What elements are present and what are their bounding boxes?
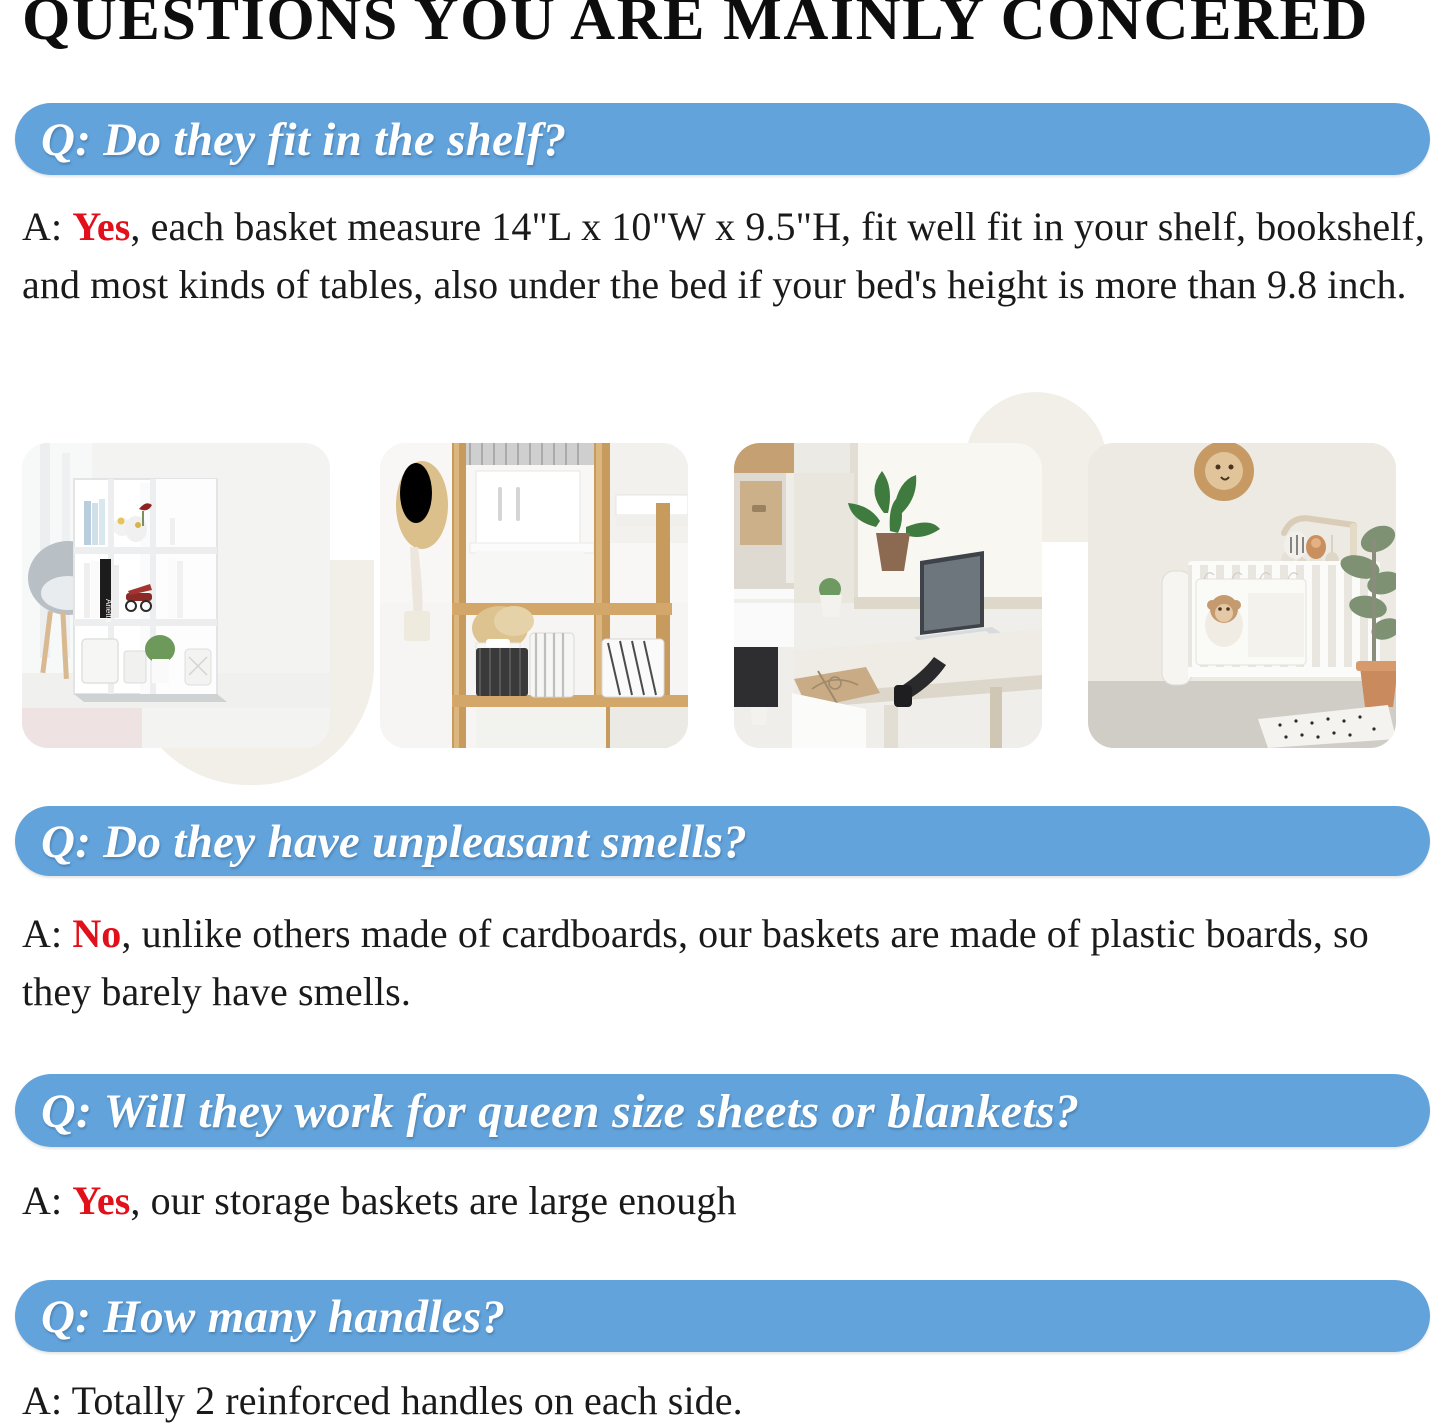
question-label-2: Q: Do they have unpleasant smells?: [41, 816, 747, 868]
question-bar-4: Q: How many handles?: [15, 1280, 1430, 1352]
nursery-crib-photo: [1088, 443, 1396, 748]
faq-page: QUESTIONS YOU ARE MAINLY CONCERED Q: Do …: [0, 0, 1445, 1428]
answer-prefix-1: A:: [22, 204, 72, 249]
page-title: QUESTIONS YOU ARE MAINLY CONCERED: [22, 0, 1445, 54]
question-bar-3: Q: Will they work for queen size sheets …: [15, 1074, 1430, 1147]
bamboo-shelf-rack-photo: [380, 443, 688, 748]
answer-body-2: , unlike others made of cardboards, our …: [22, 911, 1369, 1014]
office-desk-photo: [734, 443, 1042, 748]
answer-prefix-4: A: Totally 2 reinforced handles on each …: [22, 1378, 743, 1423]
answer-text-1: A: Yes, each basket measure 14"L x 10"W …: [22, 198, 1430, 314]
answer-prefix-2: A:: [22, 911, 72, 956]
answer-body-1: , each basket measure 14"L x 10"W x 9.5"…: [22, 204, 1425, 307]
svg-text:Arietta: Arietta: [104, 599, 113, 623]
question-label-4: Q: How many handles?: [41, 1291, 505, 1343]
answer-text-3: A: Yes, our storage baskets are large en…: [22, 1172, 1422, 1230]
living-room-cube-shelf-photo: Arietta: [22, 443, 330, 748]
answer-highlight-1: Yes: [72, 204, 130, 249]
answer-text-4: A: Totally 2 reinforced handles on each …: [22, 1372, 1422, 1428]
question-bar-2: Q: Do they have unpleasant smells?: [15, 806, 1430, 876]
answer-highlight-2: No: [72, 911, 121, 956]
answer-prefix-3: A:: [22, 1178, 72, 1223]
question-label-3: Q: Will they work for queen size sheets …: [41, 1085, 1079, 1139]
answer-highlight-3: Yes: [72, 1178, 130, 1223]
answer-body-3: , our storage baskets are large enough: [130, 1178, 736, 1223]
question-label-1: Q: Do they fit in the shelf?: [41, 114, 566, 166]
answer-text-2: A: No, unlike others made of cardboards,…: [22, 905, 1422, 1021]
question-bar-1: Q: Do they fit in the shelf?: [15, 103, 1430, 175]
